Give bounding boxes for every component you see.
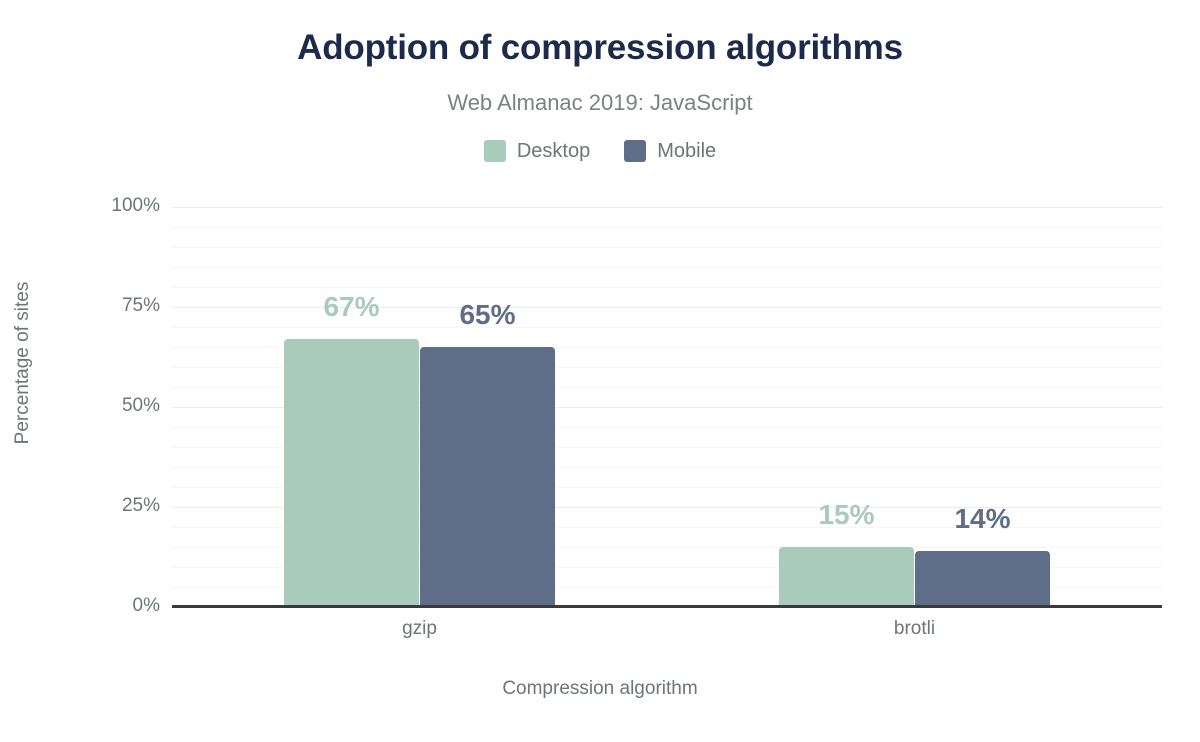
bar-value-gzip-mobile: 65% <box>420 299 556 331</box>
legend-label-desktop: Desktop <box>517 140 590 162</box>
legend-item-desktop[interactable]: Desktop <box>484 140 590 162</box>
chart-title: Adoption of compression algorithms <box>0 28 1200 68</box>
y-axis-title: Percentage of sites <box>12 213 34 513</box>
legend-swatch-mobile-icon <box>624 140 646 162</box>
chart-subtitle: Web Almanac 2019: JavaScript <box>0 90 1200 116</box>
bar-value-brotli-mobile: 14% <box>915 503 1051 535</box>
legend-label-mobile: Mobile <box>657 140 716 162</box>
bar-value-gzip-desktop: 67% <box>284 291 420 323</box>
chart-container: Adoption of compression algorithms Web A… <box>0 0 1200 742</box>
y-axis-tick-label: 0% <box>40 595 160 617</box>
y-axis-tick-label: 25% <box>40 495 160 517</box>
x-axis-baseline <box>172 605 1162 608</box>
y-axis-tick-label: 100% <box>40 195 160 217</box>
bar-group: 67%65%15%14% <box>172 207 1162 607</box>
x-axis-tick-brotli: brotli <box>815 618 1015 640</box>
x-axis-tick-gzip: gzip <box>320 618 520 640</box>
y-axis-tick-label: 50% <box>40 395 160 417</box>
chart-legend: Desktop Mobile <box>0 140 1200 162</box>
plot-area: 67%65%15%14% <box>172 207 1162 607</box>
bar-gzip-desktop[interactable] <box>284 339 419 607</box>
x-axis-title: Compression algorithm <box>0 678 1200 700</box>
bar-brotli-mobile[interactable] <box>915 551 1050 607</box>
bar-value-brotli-desktop: 15% <box>779 499 915 531</box>
bar-gzip-mobile[interactable] <box>420 347 555 607</box>
y-axis-tick-label: 75% <box>40 295 160 317</box>
legend-swatch-desktop-icon <box>484 140 506 162</box>
bar-brotli-desktop[interactable] <box>779 547 914 607</box>
legend-item-mobile[interactable]: Mobile <box>624 140 716 162</box>
